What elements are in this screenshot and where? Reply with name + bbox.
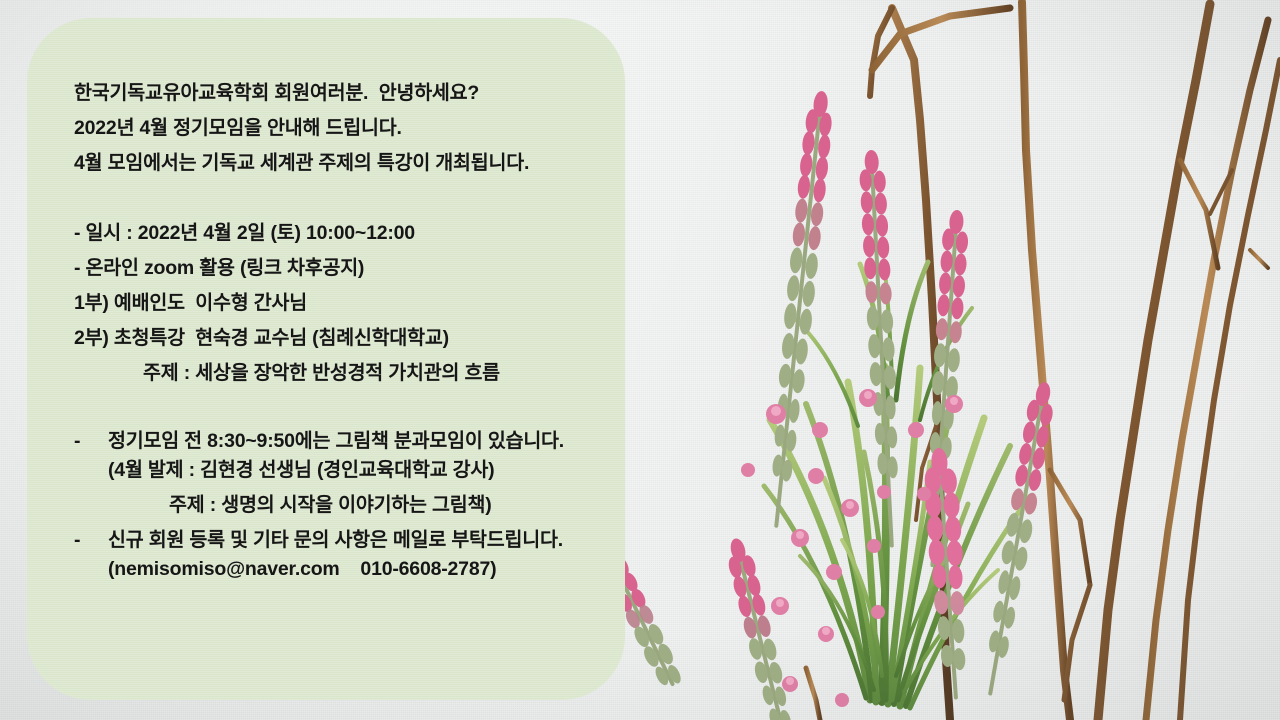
note-item-2: - 신규 회원 등록 및 기타 문의 사항은 메일로 부탁드립니다. [74, 523, 607, 552]
greeting-line-2: 2022년 4월 정기모임을 안내해 드립니다. [74, 111, 607, 146]
detail-part2: 2부) 초청특강 현숙경 교수님 (침례신학대학교) [74, 321, 607, 356]
note-1-continuation-2: 주제 : 생명의 시작을 이야기하는 그림책) [74, 488, 607, 523]
detail-part2-subject: 주제 : 세상을 장악한 반성경적 가치관의 흐름 [74, 356, 607, 391]
note-1-text: 정기모임 전 8:30~9:50에는 그림책 분과모임이 있습니다. [108, 424, 564, 453]
spacer-1 [74, 181, 607, 216]
note-1-continuation-1: (4월 발제 : 김현경 선생님 (경인교육대학교 강사) [74, 453, 607, 488]
greeting-line-1: 한국기독교유아교육학회 회원여러분. 안녕하세요? [74, 76, 607, 111]
plant-photograph [620, 0, 1280, 720]
detail-date: - 일시 : 2022년 4월 2일 (토) 10:00~12:00 [74, 216, 607, 251]
note-2-text: 신규 회원 등록 및 기타 문의 사항은 메일로 부탁드립니다. [108, 523, 563, 552]
greeting-line-3: 4월 모임에서는 기독교 세계관 주제의 특강이 개최됩니다. [74, 146, 607, 181]
note-item-1: - 정기모임 전 8:30~9:50에는 그림책 분과모임이 있습니다. [74, 424, 607, 453]
notice-text-block: 한국기독교유아교육학회 회원여러분. 안녕하세요? 2022년 4월 정기모임을… [74, 76, 607, 587]
bullet-dash-icon-2: - [74, 529, 108, 552]
contact-line: (nemisomiso@naver.com 010-6608-2787) [74, 552, 607, 587]
detail-part1: 1부) 예배인도 이수형 간사님 [74, 286, 607, 321]
bullet-dash-icon: - [74, 430, 108, 453]
notice-card: 한국기독교유아교육학회 회원여러분. 안녕하세요? 2022년 4월 정기모임을… [27, 18, 625, 700]
detail-platform: - 온라인 zoom 활용 (링크 차후공지) [74, 251, 607, 286]
spacer-2 [74, 391, 607, 424]
slide-canvas: 한국기독교유아교육학회 회원여러분. 안녕하세요? 2022년 4월 정기모임을… [0, 0, 1280, 720]
